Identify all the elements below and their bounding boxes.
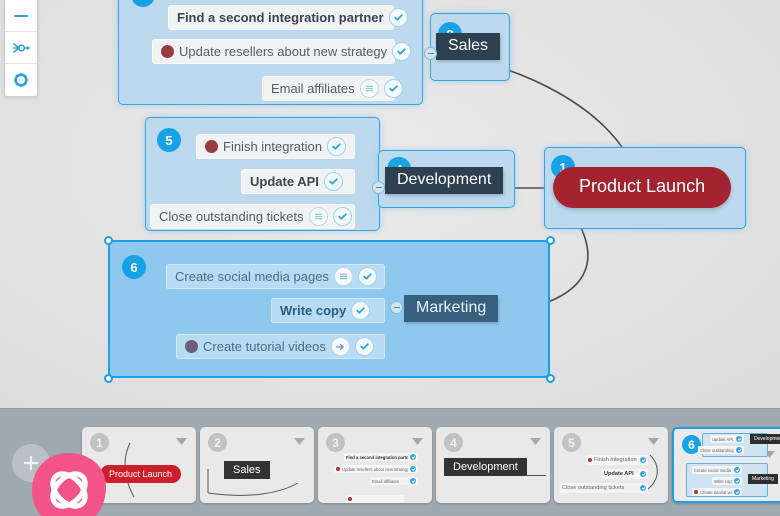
- check-icon: [640, 457, 646, 463]
- task-label: Create social media pages: [175, 269, 329, 284]
- thumb-node-label: Marketing: [748, 474, 778, 484]
- thumb-task-row: Update resellers about new strategy: [334, 465, 418, 473]
- thumb-task-label: Email affiliates: [372, 479, 408, 484]
- node-development[interactable]: Development: [385, 167, 503, 194]
- thumb-task-label: Update API: [604, 471, 638, 477]
- task-row[interactable]: Write copy: [271, 298, 385, 323]
- status-dot: [161, 45, 174, 58]
- notes-icon[interactable]: [309, 207, 328, 226]
- status-dot: [205, 140, 218, 153]
- group-badge-3: 3: [131, 0, 155, 7]
- task-row[interactable]: Find a second integration partner: [168, 5, 394, 30]
- node-sales[interactable]: Sales: [436, 33, 500, 60]
- task-row[interactable]: Update resellers about new strategy: [152, 39, 395, 64]
- check-icon: [736, 436, 742, 442]
- thumb-task-label: Update resellers about new strategy: [342, 467, 408, 472]
- check-icon[interactable]: [384, 79, 403, 98]
- check-icon[interactable]: [324, 172, 343, 191]
- thumb-task-label: Close outstanding tickets: [700, 448, 734, 453]
- thumb-task-row: Email affiliates: [370, 477, 418, 485]
- check-icon[interactable]: [351, 301, 370, 320]
- slide-preview: Finish integration Update API Close outs…: [554, 427, 668, 503]
- thumb-task-label: Write copy: [714, 479, 732, 484]
- thumb-task-row: Create tutorial videos: [692, 488, 742, 496]
- node-label: Product Launch: [579, 176, 705, 196]
- slide-preview: Sales: [200, 427, 314, 503]
- collapse-handle[interactable]: [372, 181, 385, 194]
- status-dot: [348, 497, 352, 501]
- task-label: Close outstanding tickets: [159, 209, 304, 224]
- left-toolbar[interactable]: [4, 0, 38, 97]
- task-label: Update resellers about new strategy: [179, 44, 387, 59]
- resize-handle-tr[interactable]: [546, 236, 555, 245]
- check-icon: [736, 447, 742, 453]
- task-row[interactable]: Create social media pages: [166, 264, 385, 289]
- status-dot: [588, 458, 592, 462]
- slide-thumbnail[interactable]: 6 Update API Close outstanding tickets D…: [672, 427, 780, 503]
- task-row[interactable]: Update API: [241, 169, 355, 194]
- group-badge-6: 6: [122, 255, 146, 279]
- thumb-task-row: Create social media pages: [692, 466, 742, 474]
- thumb-task-row: Update API: [710, 435, 744, 443]
- check-icon: [640, 485, 646, 491]
- check-icon: [410, 466, 416, 472]
- thumb-task-row: Update API: [602, 469, 648, 479]
- thumb-task-row: Write copy: [712, 477, 742, 485]
- slide-thumbnail[interactable]: 3 Find a second integration partner Upda…: [318, 427, 432, 503]
- check-icon: [734, 467, 740, 473]
- mindmap-canvas[interactable]: 3 Find a second integration partner Upda…: [0, 0, 780, 408]
- collapse-handle[interactable]: [390, 301, 403, 314]
- thumb-task-row: Close outstanding tickets: [698, 446, 744, 454]
- node-label: Marketing: [416, 299, 486, 316]
- slide-preview: Find a second integration partner Update…: [318, 427, 432, 503]
- check-icon[interactable]: [392, 42, 411, 61]
- check-icon: [734, 478, 740, 484]
- line-tool-icon[interactable]: [5, 0, 37, 32]
- task-label: Create tutorial videos: [203, 339, 326, 354]
- gear-icon[interactable]: [5, 64, 37, 96]
- thumb-node-label: Sales: [224, 461, 270, 479]
- thumb-task-row: Find a second integration partner: [344, 453, 418, 461]
- thumb-task-label: Create tutorial videos: [700, 490, 732, 495]
- slide-thumbnail[interactable]: 4 Development: [436, 427, 550, 503]
- task-label: Find a second integration partner: [177, 10, 384, 25]
- thumb-task-label: Create social media pages: [694, 468, 732, 473]
- slide-preview: Update API Close outstanding tickets Dev…: [674, 429, 780, 501]
- task-label: Email affiliates: [271, 81, 355, 96]
- node-marketing[interactable]: Marketing: [404, 295, 498, 322]
- task-label: Finish integration: [223, 139, 322, 154]
- thumb-task-label: Close outstanding tickets: [562, 485, 638, 491]
- notes-icon[interactable]: [334, 267, 353, 286]
- node-label: Development: [397, 171, 491, 188]
- check-icon: [640, 471, 646, 477]
- collapse-handle[interactable]: [424, 47, 437, 60]
- thumb-task-label: Find a second integration partner: [346, 455, 408, 460]
- thumb-task-label: Finish integration: [594, 457, 638, 463]
- task-row[interactable]: Create tutorial videos: [176, 334, 385, 359]
- task-label: Write copy: [280, 303, 346, 318]
- resize-handle-bl[interactable]: [104, 374, 113, 383]
- node-product-launch[interactable]: Product Launch: [553, 167, 731, 208]
- check-icon: [734, 489, 740, 495]
- check-icon[interactable]: [358, 267, 377, 286]
- slide-thumbnail[interactable]: 5 Finish integration Update API Close ou…: [554, 427, 668, 503]
- task-label: Update API: [250, 174, 319, 189]
- task-row[interactable]: Close outstanding tickets: [150, 204, 355, 229]
- resize-handle-tl[interactable]: [104, 236, 113, 245]
- slide-preview: Development: [436, 427, 550, 503]
- notes-icon[interactable]: [360, 79, 379, 98]
- task-row[interactable]: Finish integration: [196, 134, 355, 159]
- check-icon: [410, 478, 416, 484]
- connector-tool-icon[interactable]: [5, 32, 37, 64]
- thumb-task-row: Close outstanding tickets: [560, 483, 648, 493]
- thumb-task-row: Finish integration: [586, 455, 648, 465]
- app-logo[interactable]: [30, 451, 108, 516]
- arrow-right-icon[interactable]: [331, 337, 350, 356]
- thumb-task-label: Update API: [712, 437, 734, 442]
- connector-line: [524, 475, 546, 476]
- thumb-node-label: Development: [750, 434, 780, 444]
- group-badge-5: 5: [157, 128, 181, 152]
- thumb-task-row: [346, 495, 404, 503]
- slide-thumbnail[interactable]: 2 Sales: [200, 427, 314, 503]
- check-icon[interactable]: [327, 137, 346, 156]
- check-icon[interactable]: [355, 337, 374, 356]
- resize-handle-br[interactable]: [546, 374, 555, 383]
- thumb-node-label: Development: [444, 458, 527, 476]
- slide-filmstrip[interactable]: 1 Product Launch 2 Sales 3 Find a second…: [0, 408, 780, 516]
- check-icon[interactable]: [333, 207, 352, 226]
- task-row[interactable]: Email affiliates: [262, 76, 395, 101]
- status-dot: [694, 490, 698, 494]
- status-dot: [336, 467, 340, 471]
- status-dot: [185, 340, 198, 353]
- slide-list[interactable]: 1 Product Launch 2 Sales 3 Find a second…: [62, 409, 780, 516]
- check-icon: [410, 454, 416, 460]
- node-label: Sales: [448, 37, 488, 54]
- thumb-node-label: Product Launch: [100, 465, 181, 483]
- check-icon[interactable]: [389, 8, 408, 27]
